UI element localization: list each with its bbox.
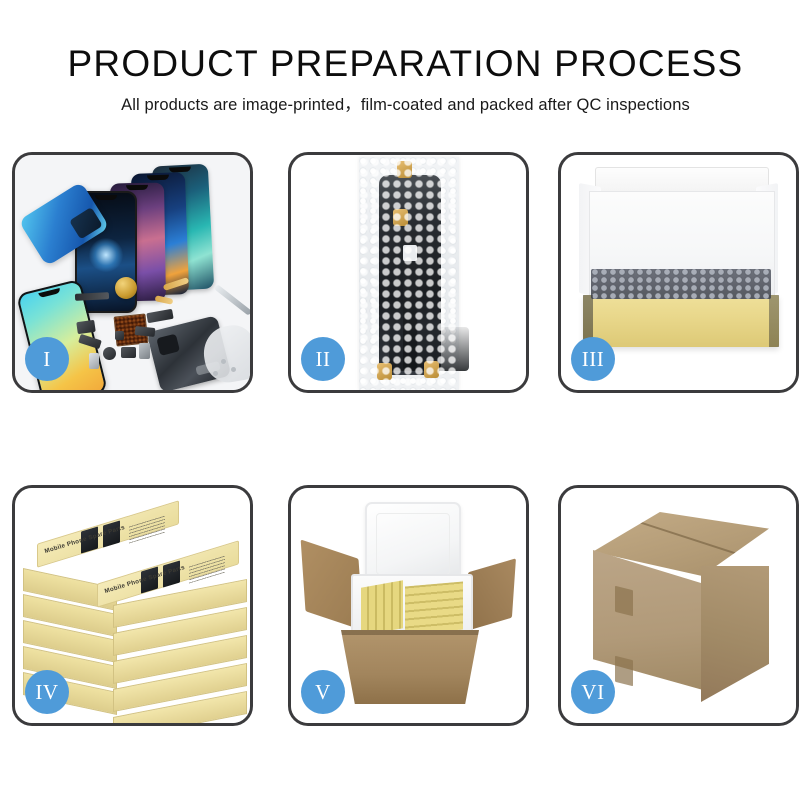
small-part bbox=[89, 353, 99, 369]
carton-body bbox=[341, 630, 479, 704]
step-badge-1: I bbox=[25, 337, 69, 381]
process-step-panel-5[interactable]: V bbox=[288, 485, 529, 726]
small-part bbox=[115, 331, 124, 340]
phone-notch bbox=[38, 288, 61, 298]
flex-cable bbox=[155, 295, 174, 305]
small-part bbox=[146, 309, 173, 323]
process-step-panel-6[interactable]: VI bbox=[558, 485, 799, 726]
shipping-carton bbox=[581, 512, 779, 702]
page-title: PRODUCT PREPARATION PROCESS bbox=[0, 0, 811, 84]
page-subtitle: All products are image-printed，film-coat… bbox=[0, 84, 811, 115]
yellow-box-tray bbox=[583, 295, 779, 347]
small-part bbox=[103, 347, 116, 360]
step-badge-4: IV bbox=[25, 670, 69, 714]
step-badge-5: V bbox=[301, 670, 345, 714]
process-step-grid: I II bbox=[0, 152, 811, 752]
carton-tape-patch bbox=[615, 586, 633, 616]
tweezers-icon bbox=[214, 284, 250, 316]
process-step-panel-3[interactable]: III bbox=[558, 152, 799, 393]
small-part bbox=[135, 326, 156, 337]
yellow-boxes-inside bbox=[361, 584, 463, 632]
step-badge-6: VI bbox=[571, 670, 615, 714]
process-step-panel-4[interactable]: Mobile Phone Spare Parts Mobile Phone Sp… bbox=[12, 485, 253, 726]
small-part bbox=[121, 347, 136, 358]
process-step-panel-1[interactable]: I bbox=[12, 152, 253, 393]
screw bbox=[221, 359, 226, 364]
screw bbox=[213, 371, 218, 376]
carton-tape-patch bbox=[615, 656, 633, 686]
yellow-box-row bbox=[405, 581, 463, 634]
carton-side-face bbox=[701, 566, 769, 702]
bubble-wrapped-contents bbox=[591, 269, 771, 299]
header: PRODUCT PREPARATION PROCESS All products… bbox=[0, 0, 811, 115]
phone-notch bbox=[126, 185, 148, 190]
bubble-texture-overlay bbox=[359, 157, 459, 390]
yellow-box-row bbox=[361, 580, 403, 635]
process-step-panel-2[interactable]: II bbox=[288, 152, 529, 393]
phone-notch bbox=[147, 175, 169, 181]
tray-edge-right bbox=[769, 295, 779, 347]
bubble-wrap-sleeve bbox=[359, 157, 459, 390]
step-badge-3: III bbox=[571, 337, 615, 381]
screw bbox=[231, 367, 236, 372]
small-part bbox=[139, 343, 150, 359]
step-badge-2: II bbox=[301, 337, 345, 381]
small-part bbox=[76, 320, 95, 334]
speaker-module bbox=[115, 277, 137, 299]
phone-notch bbox=[95, 195, 117, 200]
product-preparation-infographic: PRODUCT PREPARATION PROCESS All products… bbox=[0, 0, 811, 811]
